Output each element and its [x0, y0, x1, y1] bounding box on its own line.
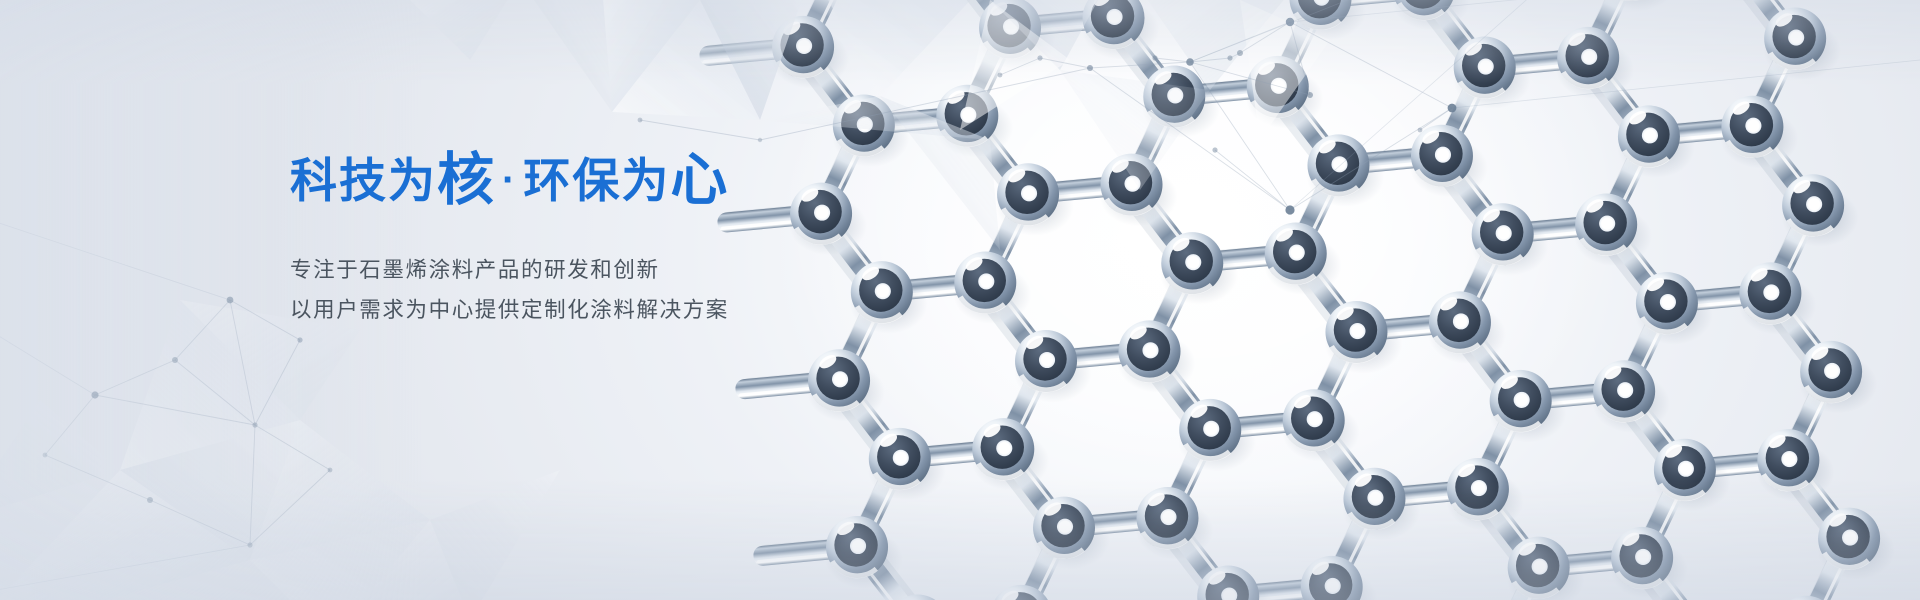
subtitle-line-1: 专注于石墨烯涂料产品的研发和创新 — [290, 251, 930, 291]
hero-copy: 科技为核·环保为心 专注于石墨烯涂料产品的研发和创新 以用户需求为中心提供定制化… — [290, 150, 930, 331]
headline-emphasis-2: 心 — [670, 152, 729, 209]
low-poly-polygon-network — [0, 0, 1920, 600]
headline-separator-dot: · — [496, 158, 523, 202]
page-title: 科技为核·环保为心 — [290, 150, 930, 207]
hero-subtitle: 专注于石墨烯涂料产品的研发和创新 以用户需求为中心提供定制化涂料解决方案 — [290, 251, 930, 331]
headline-part-1: 科技为 — [290, 155, 437, 207]
hero-banner: 科技为核·环保为心 专注于石墨烯涂料产品的研发和创新 以用户需求为中心提供定制化… — [0, 0, 1920, 600]
headline-part-2: 环保为 — [523, 155, 670, 207]
headline-emphasis-1: 核 — [437, 152, 496, 209]
subtitle-line-2: 以用户需求为中心提供定制化涂料解决方案 — [290, 291, 930, 331]
